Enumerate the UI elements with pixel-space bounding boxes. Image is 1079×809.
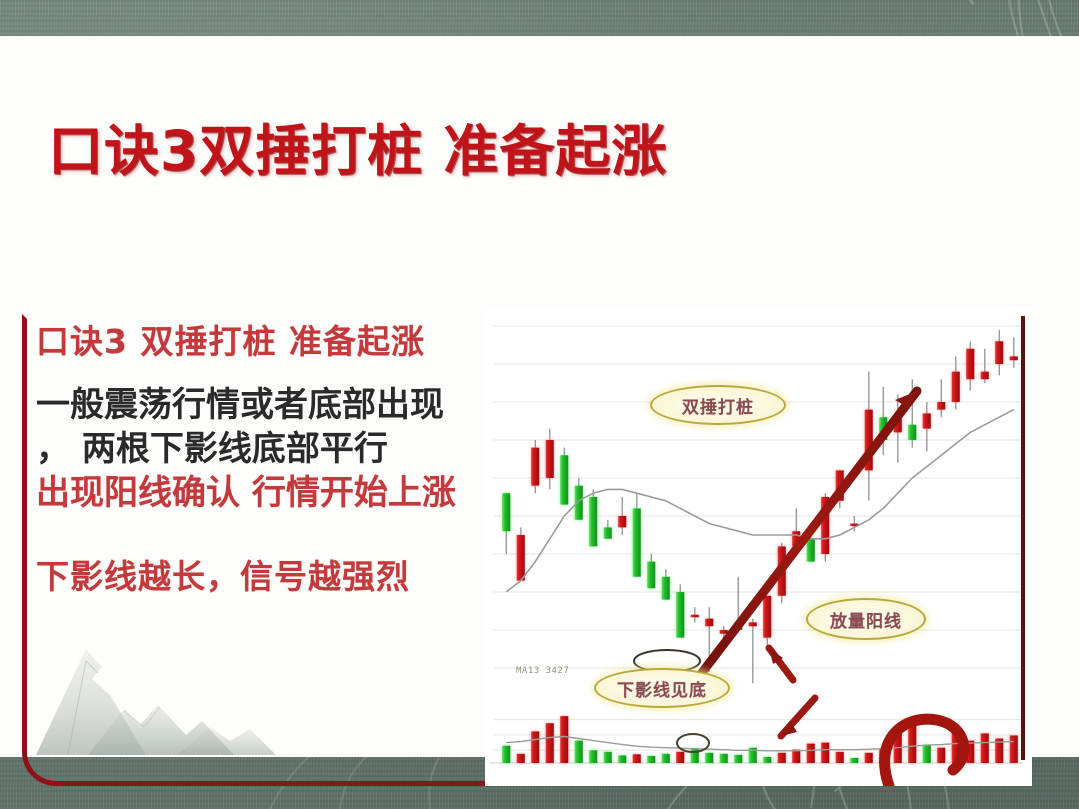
callout-lower-shadow-bottom-label: 下影线见底: [617, 676, 707, 701]
callout-volume-bull-candle-label: 放量阳线: [830, 607, 902, 632]
callout-volume-bull-candle: 放量阳线: [806, 598, 926, 640]
lesson-tail-line: 下影线越长，信号越强烈: [36, 557, 488, 598]
candlestick-chart: [485, 308, 1032, 786]
lesson-accent-line: 出现阳线确认 行情开始上涨: [36, 471, 488, 515]
callout-double-hammer-label: 双捶打桩: [682, 393, 754, 418]
lesson-body-line: 一般震荡行情或者底部出现 ， 两根下影线底部平行: [36, 383, 488, 471]
page-title: 口诀3双捶打桩 准备起涨: [48, 106, 667, 186]
chart-canvas: [485, 308, 1032, 786]
slide-page: 口诀3双捶打桩 准备起涨 口诀3 双捶打桩 准备起涨 一般震荡行情或者底部出现 …: [0, 36, 1079, 757]
slide-stage: 口诀3双捶打桩 准备起涨 口诀3 双捶打桩 准备起涨 一般震荡行情或者底部出现 …: [0, 0, 1079, 809]
lesson-text-panel: 口诀3 双捶打桩 准备起涨 一般震荡行情或者底部出现 ， 两根下影线底部平行 出…: [36, 322, 488, 782]
ma-indicator-label: MA13 3427: [516, 666, 569, 676]
lesson-title-line: 口诀3 双捶打桩 准备起涨: [36, 322, 488, 363]
callout-lower-shadow-bottom: 下影线见底: [594, 668, 730, 708]
callout-double-hammer: 双捶打桩: [650, 385, 786, 425]
